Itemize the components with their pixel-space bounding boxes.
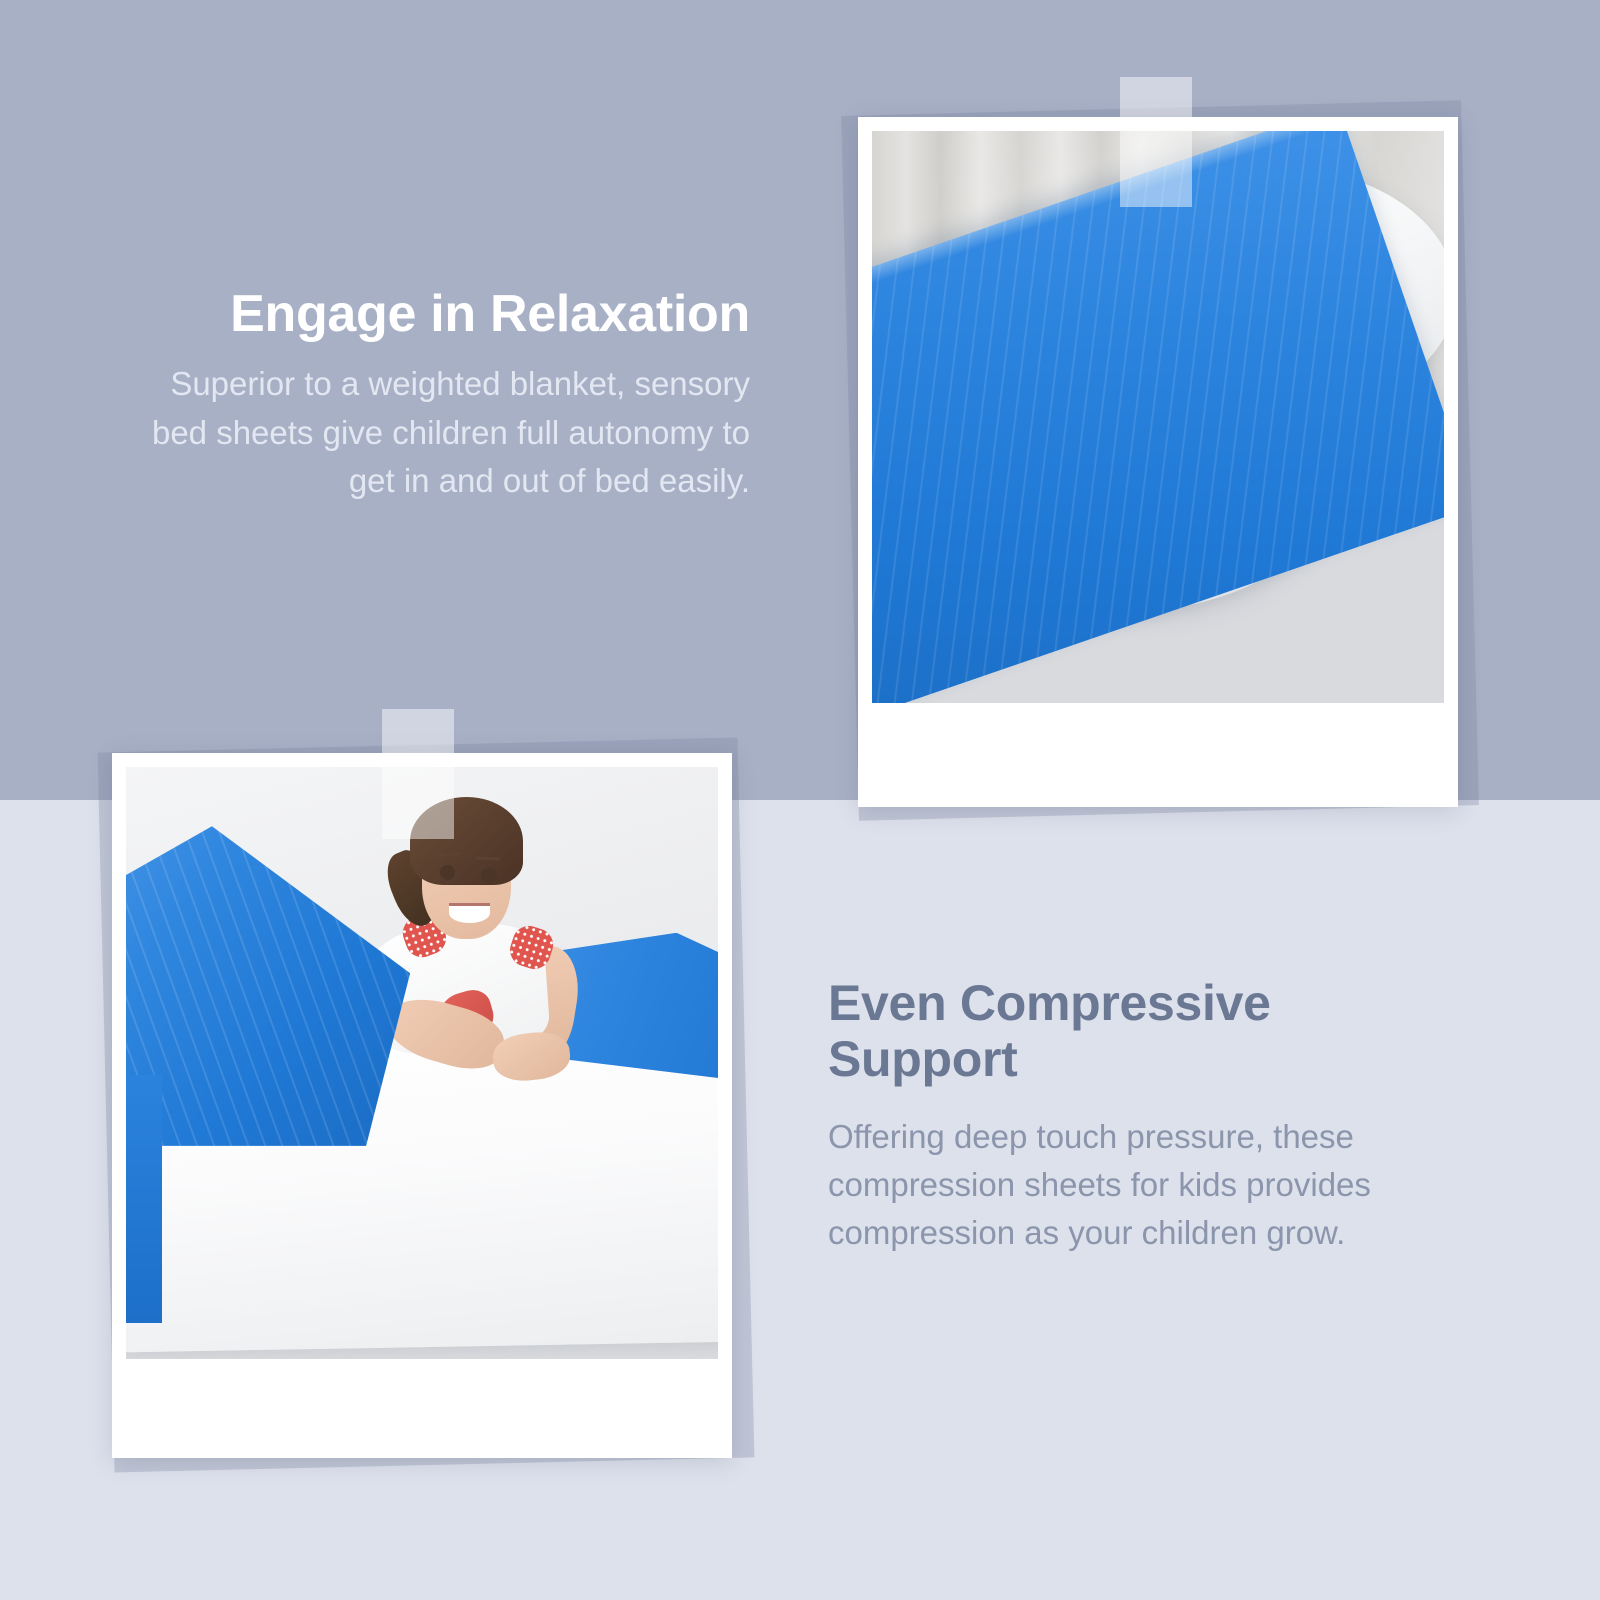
- tape-strip: [382, 709, 454, 839]
- photo-card-girl-under-sheet: [80, 715, 760, 1495]
- infographic-canvas: Engage in Relaxation Superior to a weigh…: [0, 0, 1600, 1600]
- copy-block-even-compressive-support: Even Compressive Support Offering deep t…: [828, 975, 1448, 1257]
- blue-sheet-drape: [126, 1075, 162, 1324]
- girl-eye-left: [440, 865, 455, 880]
- headline-even-compressive-support: Even Compressive Support: [828, 975, 1448, 1087]
- photo-image-sleeping-girl: [872, 131, 1444, 703]
- tape-strip: [1120, 77, 1192, 207]
- photo-image-girl-under-sheet: [126, 767, 718, 1359]
- headline-engage-in-relaxation: Engage in Relaxation: [150, 286, 750, 342]
- body-engage-in-relaxation: Superior to a weighted blanket, sensory …: [150, 360, 750, 506]
- polaroid-frame: [858, 117, 1458, 807]
- girl-eye-right: [481, 868, 496, 883]
- photo-card-sleeping-girl: [820, 80, 1480, 840]
- copy-block-engage-in-relaxation: Engage in Relaxation Superior to a weigh…: [150, 286, 750, 506]
- scene-bedroom: [872, 131, 1444, 703]
- scene-studio-mattress: [126, 767, 718, 1359]
- polaroid-frame: [112, 753, 732, 1458]
- body-even-compressive-support: Offering deep touch pressure, these comp…: [828, 1113, 1448, 1257]
